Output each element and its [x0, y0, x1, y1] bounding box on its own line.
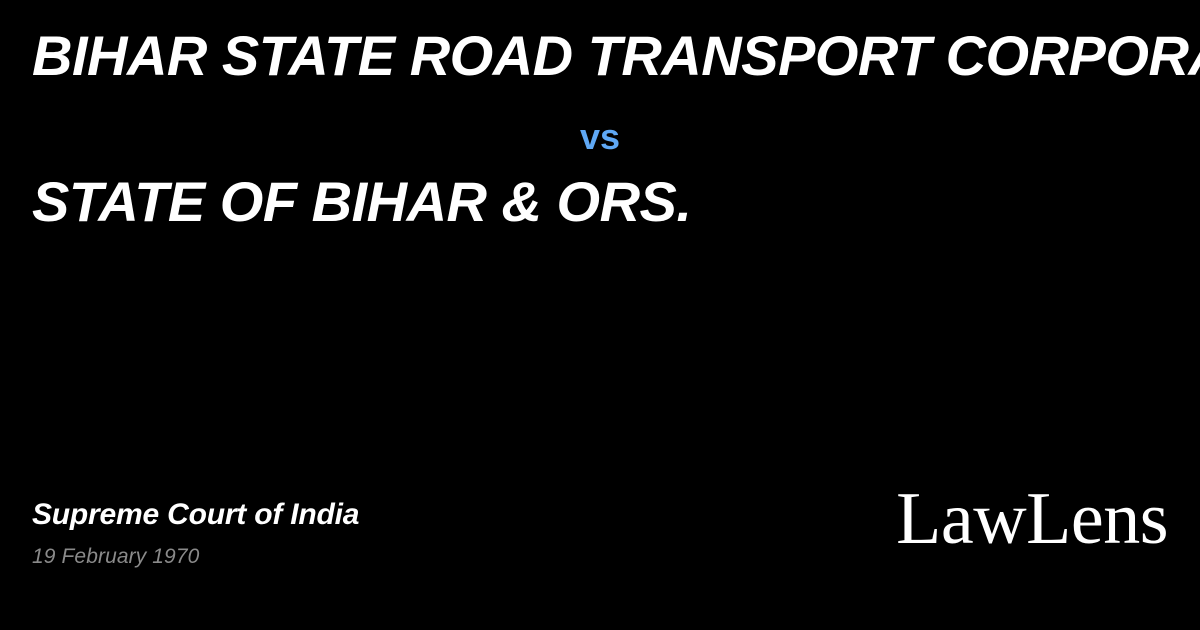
case-share-card: BIHAR STATE ROAD TRANSPORT CORPORATION v…	[0, 0, 1200, 630]
card-footer: Supreme Court of India 19 February 1970 …	[0, 470, 1200, 630]
case-metadata: Supreme Court of India 19 February 1970	[32, 500, 359, 567]
versus-separator: vs	[0, 119, 1200, 155]
judgment-date: 19 February 1970	[32, 546, 359, 567]
respondent-name: STATE OF BIHAR & ORS.	[32, 174, 1200, 230]
court-name: Supreme Court of India	[32, 500, 359, 530]
petitioner-name: BIHAR STATE ROAD TRANSPORT CORPORATION	[32, 28, 1200, 84]
lawlens-logo: LawLens	[896, 482, 1168, 556]
